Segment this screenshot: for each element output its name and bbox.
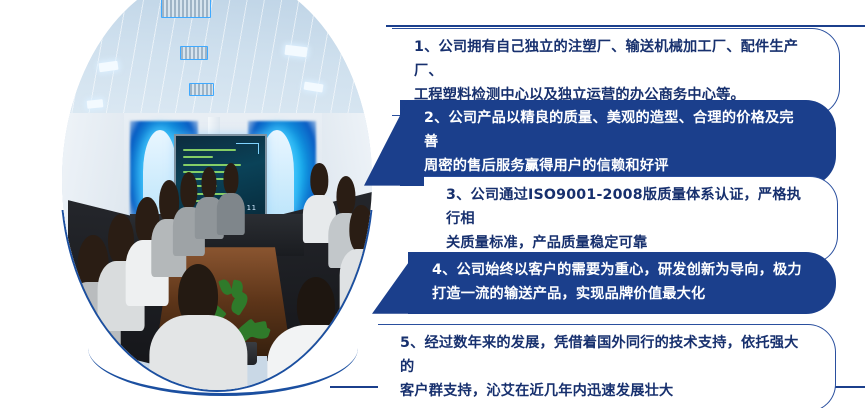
advantage-3-line-1: 3、公司通过ISO9001-2008版质量体系认证，严格执行相: [446, 187, 801, 227]
advantage-item-3[interactable]: 3、公司通过ISO9001-2008版质量体系认证，严格执行相 关质量标准，产品…: [424, 176, 838, 264]
advantage-4-line-2: 打造一流的输送产品，实现品牌价值最大化: [432, 286, 705, 302]
advantage-list: 1、公司拥有自己独立的注塑厂、输送机械加工厂、配件生产厂、 工程塑料检测中心以及…: [0, 0, 865, 408]
advantage-2-line-2: 周密的售后服务赢得用户的信赖和好评: [424, 158, 669, 174]
advantage-5-line-1: 5、经过数年来的发展，凭借着国外同行的技术支持，依托强大的: [400, 335, 799, 375]
advantage-item-2[interactable]: 2、公司产品以精良的质量、美观的造型、合理的价格及完善 周密的售后服务赢得用户的…: [400, 100, 836, 186]
advantage-3-line-2: 关质量标准，产品质量稳定可靠: [446, 235, 647, 251]
advantage-5-line-2: 客户群支持，沁艾在近几年内迅速发展壮大: [400, 383, 673, 399]
banner-stage: 11: [0, 0, 865, 408]
advantage-2-line-1: 2、公司产品以精良的质量、美观的造型、合理的价格及完善: [424, 110, 794, 150]
advantage-1-line-1: 1、公司拥有自己独立的注塑厂、输送机械加工厂、配件生产厂、: [414, 39, 798, 79]
advantage-4-line-1: 4、公司始终以客户的需要为重心，研发创新为导向，极力: [432, 262, 802, 278]
advantage-item-4[interactable]: 4、公司始终以客户的需要为重心，研发创新为导向，极力 打造一流的输送产品，实现品…: [408, 252, 836, 314]
advantage-item-5[interactable]: 5、经过数年来的发展，凭借着国外同行的技术支持，依托强大的 客户群支持，沁艾在近…: [378, 324, 836, 408]
